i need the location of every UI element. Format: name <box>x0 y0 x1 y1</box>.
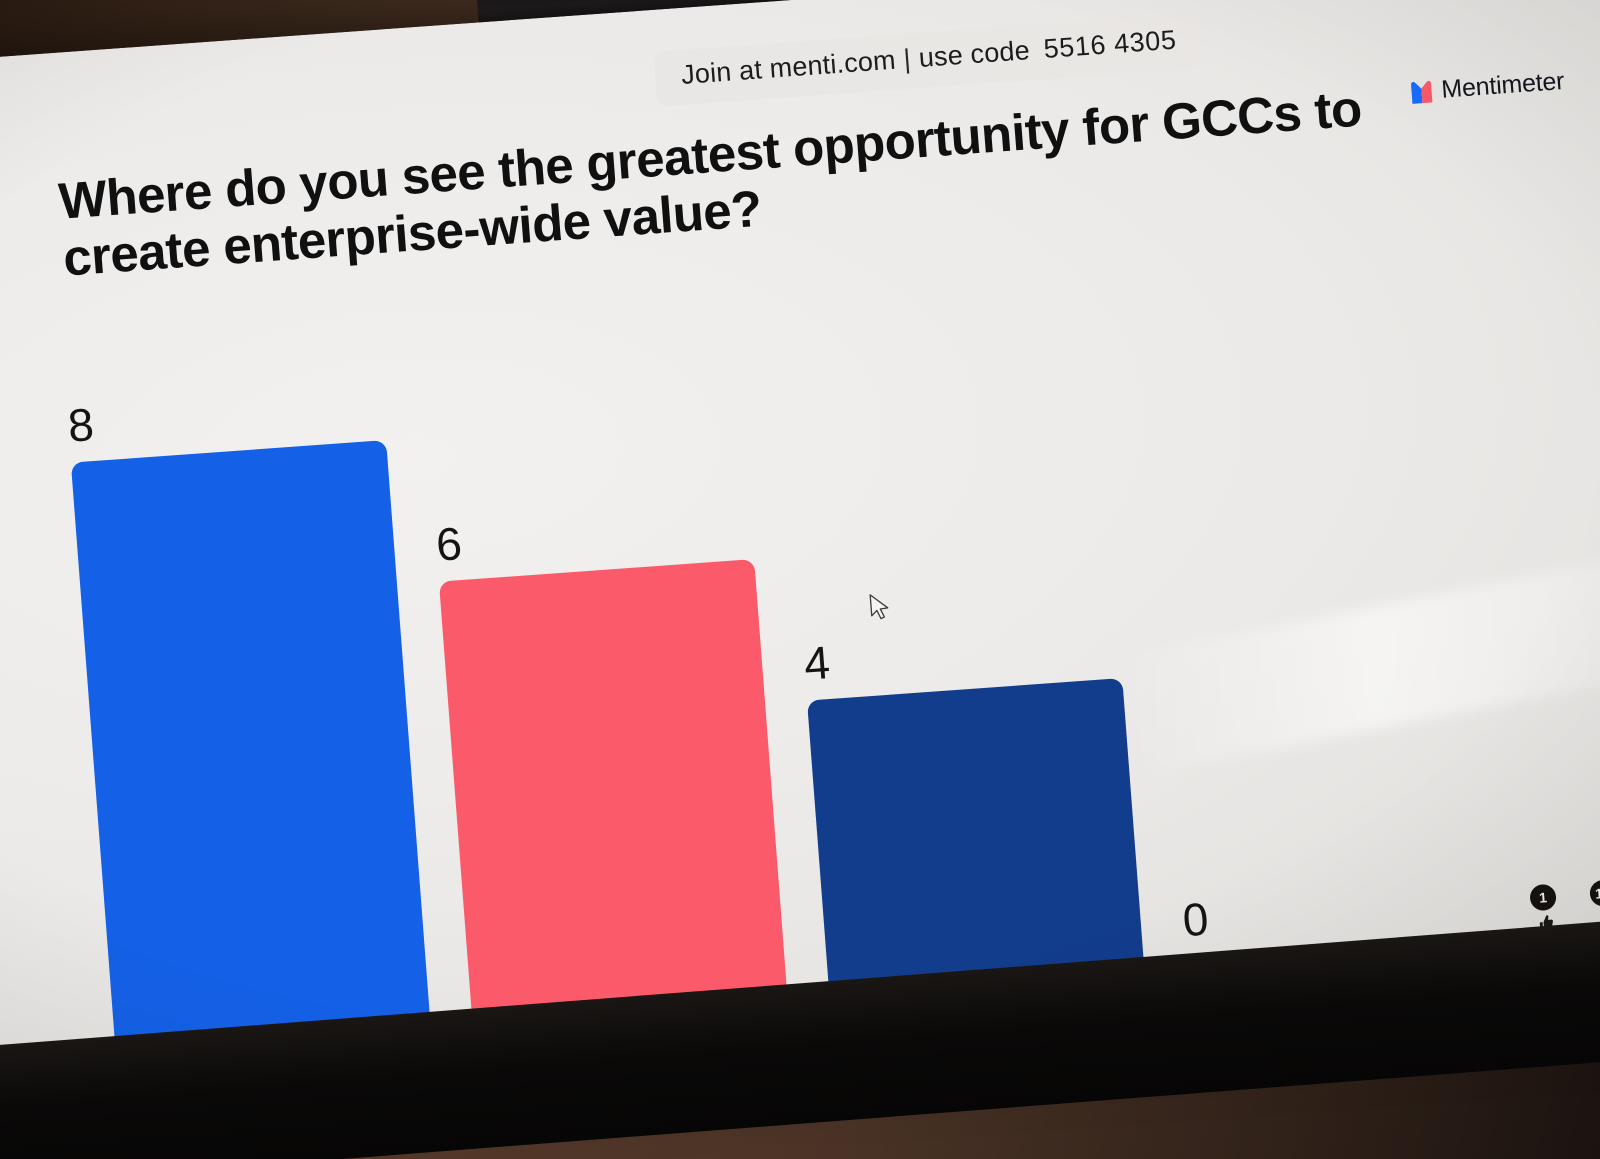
poll-bar-chart: 8AI-powered business intelligence& decis… <box>65 284 1502 1041</box>
bar-rect[interactable] <box>71 440 430 1041</box>
bar-rect[interactable] <box>439 559 787 1015</box>
join-instructions: Join at menti.com|use code5516 4305 <box>653 13 1204 107</box>
bar-value-label: 4 <box>802 618 1121 686</box>
bar-column[interactable]: 4Advanced customer & employeeexperience … <box>779 309 1144 990</box>
bar-value-label: 6 <box>434 499 753 567</box>
page-title: Where do you see the greatest opportunit… <box>57 71 1492 287</box>
mouse-cursor-icon <box>868 592 894 624</box>
bar-value-label: 8 <box>66 380 385 448</box>
bar-column[interactable]: 8AI-powered business intelligence& decis… <box>65 360 430 1041</box>
counter-count-badge: 18 <box>1589 879 1600 907</box>
bar-group: 8AI-powered business intelligence& decis… <box>65 284 1502 1041</box>
photo-of-screen: Join at menti.com|use code5516 4305 Ment… <box>0 0 1600 1159</box>
join-code: 5516 4305 <box>1043 25 1178 64</box>
join-url-text: Join at menti.com <box>680 45 897 90</box>
counter-count-badge: 1 <box>1529 884 1557 912</box>
bar-column[interactable]: 0Cloud-native enterpriseplatforms for sc… <box>1136 284 1501 965</box>
join-separator: | <box>902 44 911 74</box>
use-code-label: use code <box>918 35 1031 73</box>
bar-column[interactable]: 6End-to-end process automation& workflow… <box>422 335 787 1016</box>
bar-rect[interactable] <box>807 678 1144 990</box>
